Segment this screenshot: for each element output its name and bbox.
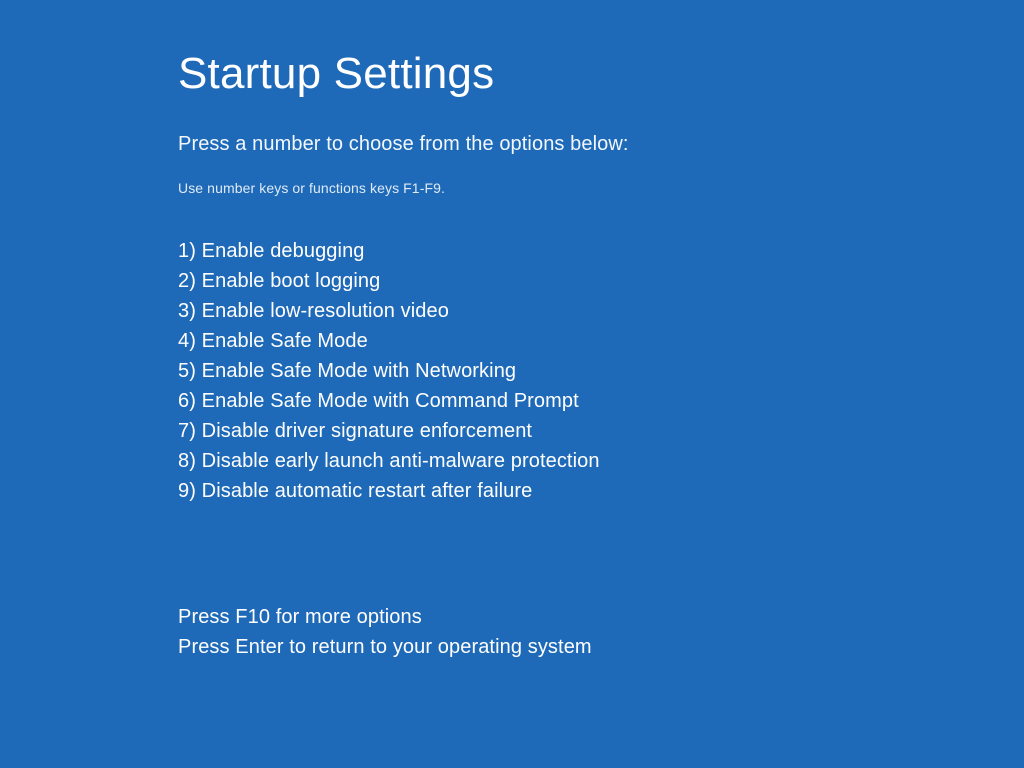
- option-label-2: Enable boot logging: [202, 270, 381, 292]
- option-item-9[interactable]: 9) Disable automatic restart after failu…: [178, 476, 998, 506]
- option-key-3: 3): [178, 300, 196, 322]
- more-options-action[interactable]: Press F10 for more options: [178, 602, 998, 632]
- option-label-7: Disable driver signature enforcement: [202, 420, 532, 442]
- page-title: Startup Settings: [178, 0, 998, 96]
- option-item-4[interactable]: 4) Enable Safe Mode: [178, 326, 998, 356]
- option-key-6: 6): [178, 390, 196, 412]
- option-item-5[interactable]: 5) Enable Safe Mode with Networking: [178, 356, 998, 386]
- option-label-8: Disable early launch anti-malware protec…: [202, 450, 600, 472]
- option-label-6: Enable Safe Mode with Command Prompt: [202, 390, 579, 412]
- option-item-2[interactable]: 2) Enable boot logging: [178, 266, 998, 296]
- option-label-3: Enable low-resolution video: [202, 300, 449, 322]
- option-key-7: 7): [178, 420, 196, 442]
- option-key-2: 2): [178, 270, 196, 292]
- return-to-os-action[interactable]: Press Enter to return to your operating …: [178, 632, 998, 662]
- option-key-5: 5): [178, 360, 196, 382]
- option-key-4: 4): [178, 330, 196, 352]
- key-hint-text: Use number keys or functions keys F1-F9.: [178, 181, 998, 195]
- option-key-9: 9): [178, 480, 196, 502]
- option-label-4: Enable Safe Mode: [202, 330, 368, 352]
- option-label-9: Disable automatic restart after failure: [202, 480, 533, 502]
- option-key-1: 1): [178, 240, 196, 262]
- footer-actions: Press F10 for more options Press Enter t…: [178, 602, 998, 662]
- option-item-1[interactable]: 1) Enable debugging: [178, 236, 998, 266]
- option-item-8[interactable]: 8) Disable early launch anti-malware pro…: [178, 446, 998, 476]
- option-key-8: 8): [178, 450, 196, 472]
- option-item-6[interactable]: 6) Enable Safe Mode with Command Prompt: [178, 386, 998, 416]
- option-label-1: Enable debugging: [202, 240, 365, 262]
- startup-options-list: 1) Enable debugging 2) Enable boot loggi…: [178, 236, 998, 506]
- content-container: Startup Settings Press a number to choos…: [178, 0, 998, 662]
- option-item-3[interactable]: 3) Enable low-resolution video: [178, 296, 998, 326]
- option-item-7[interactable]: 7) Disable driver signature enforcement: [178, 416, 998, 446]
- instruction-text: Press a number to choose from the option…: [178, 134, 998, 154]
- startup-settings-screen: Startup Settings Press a number to choos…: [0, 0, 1024, 768]
- option-label-5: Enable Safe Mode with Networking: [202, 360, 516, 382]
